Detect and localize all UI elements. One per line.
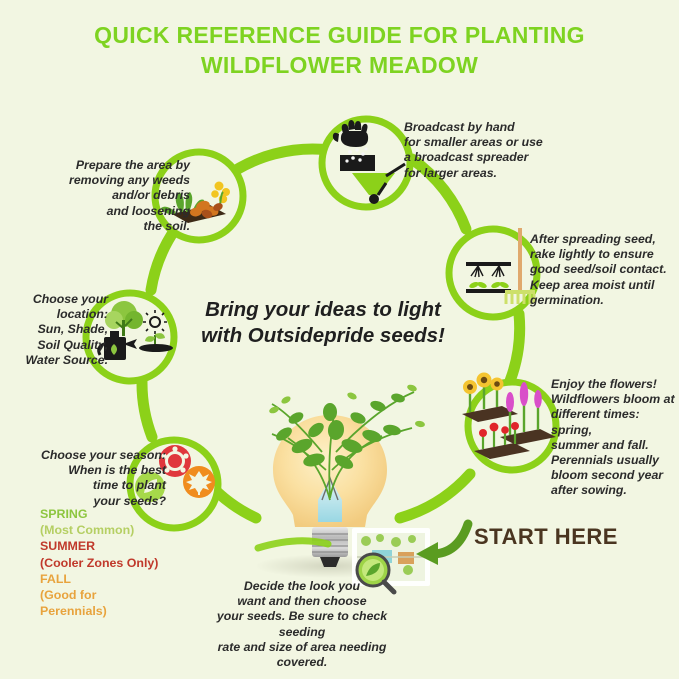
season-spring-note: (Most Common)	[14, 522, 166, 538]
callout-decide: Decide the look you want and then choose…	[193, 579, 411, 670]
callout-broadcast: Broadcast by hand for smaller areas or u…	[404, 120, 574, 181]
infographic-canvas: QUICK REFERENCE GUIDE FOR PLANTING WILDF…	[0, 0, 679, 679]
callout-location: Choose your location: Sun, Shade, Soil Q…	[4, 292, 108, 368]
season-summer-note: (Cooler Zones Only)	[14, 555, 166, 571]
callout-season: Choose your season: When is the best tim…	[14, 448, 166, 509]
callout-enjoy: Enjoy the flowers! Wildflowers bloom at …	[551, 377, 679, 499]
season-fall-name: FALL	[14, 571, 166, 587]
season-fall-note: (Good for Perennials)	[14, 587, 166, 619]
season-summer-name: SUMMER	[14, 538, 166, 554]
callout-rake: After spreading seed, rake lightly to en…	[530, 232, 679, 308]
center-tagline: Bring your ideas to light with Outsidepr…	[183, 297, 463, 349]
season-legend: SPRING (Most Common) SUMMER (Cooler Zone…	[14, 506, 166, 619]
start-here-label: START HERE	[474, 524, 618, 550]
season-spring-name: SPRING	[14, 506, 166, 522]
fall-leaf-icon	[183, 466, 215, 498]
callout-prepare: Prepare the area by removing any weeds a…	[52, 158, 190, 234]
